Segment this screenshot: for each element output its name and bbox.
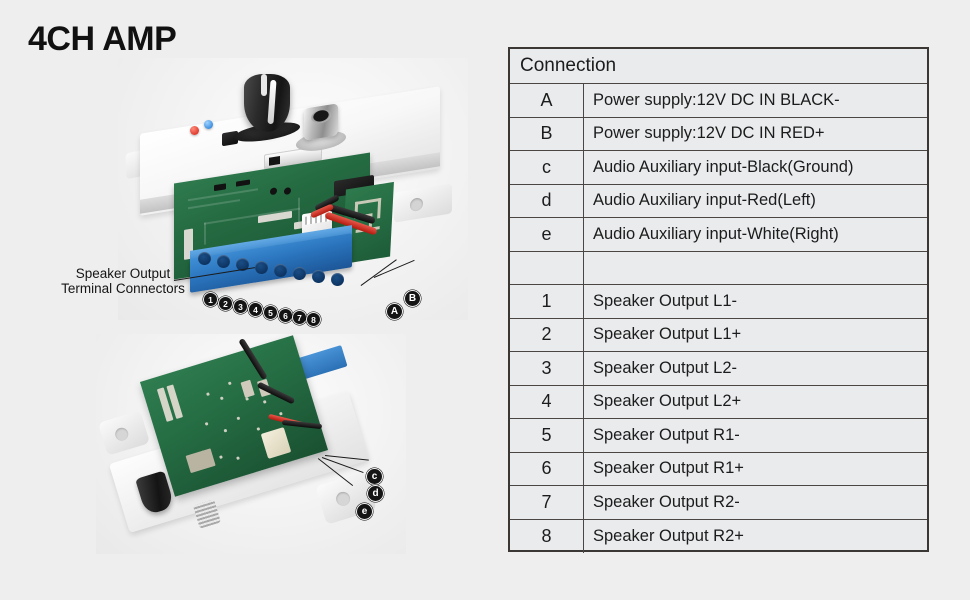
connection-table: Connection APower supply:12V DC IN BLACK…: [508, 47, 929, 552]
dc-power-jack: [304, 103, 338, 140]
page-title: 4CH AMP: [28, 20, 176, 59]
badge-label: 3: [238, 302, 243, 312]
badge-label: B: [409, 293, 416, 304]
table-row: BPower supply:12V DC IN RED+: [510, 118, 927, 152]
table-cell-value: Speaker Output L1+: [584, 319, 927, 352]
callout-badge-A: A: [386, 303, 403, 320]
table-row: 5Speaker Output R1-: [510, 419, 927, 453]
callout-badge-5: 5: [263, 305, 278, 320]
table-cell-key: 4: [510, 386, 584, 419]
badge-label: 2: [223, 299, 228, 309]
callout-badge-e: e: [356, 503, 373, 520]
callout-badge-6: 6: [278, 308, 293, 323]
terminal-screw-2: [217, 255, 230, 268]
led-red-icon: [190, 126, 199, 135]
badge-label: 8: [311, 315, 316, 325]
table-cell-value: Speaker Output L1-: [584, 285, 927, 318]
badge-label: 5: [268, 308, 273, 318]
callout-badge-B: B: [404, 290, 421, 307]
table-cell-value: Speaker Output R2+: [584, 520, 927, 554]
table-cell-value: Speaker Output L2-: [584, 352, 927, 385]
badge-label: e: [362, 506, 368, 517]
badge-label: A: [391, 306, 398, 317]
callout-badge-2: 2: [218, 296, 233, 311]
table-cell-value: Speaker Output R1+: [584, 453, 927, 486]
table-row: 3Speaker Output L2-: [510, 352, 927, 386]
table-cell-key: 3: [510, 352, 584, 385]
product-photo-rear: [96, 334, 406, 554]
callout-badge-4: 4: [248, 302, 263, 317]
callout-badge-c: c: [366, 468, 383, 485]
table-row: 7Speaker Output R2-: [510, 486, 927, 520]
badge-label: 6: [283, 311, 288, 321]
badge-label: 1: [208, 295, 213, 305]
badge-label: 4: [253, 305, 258, 315]
table-row: [510, 252, 927, 286]
table-header-title: Connection: [510, 49, 927, 83]
callout-badge-8: 8: [306, 312, 321, 327]
table-cell-key: c: [510, 151, 584, 184]
table-cell-key: 8: [510, 520, 584, 554]
table-cell-key: 5: [510, 419, 584, 452]
terminal-screw-6: [293, 267, 306, 280]
table-cell-key: B: [510, 118, 584, 151]
table-cell-value: Speaker Output L2+: [584, 386, 927, 419]
table-cell-key: A: [510, 84, 584, 117]
callout-badge-3: 3: [233, 299, 248, 314]
led-blue-icon: [204, 120, 213, 129]
table-cell-value: Speaker Output R2-: [584, 486, 927, 519]
table-cell-key: [510, 252, 584, 285]
badge-label: 7: [297, 313, 302, 323]
table-cell-key: e: [510, 218, 584, 251]
badge-label: c: [372, 471, 378, 482]
table-cell-value: Audio Auxiliary input-White(Right): [584, 218, 927, 251]
terminal-screw-5: [274, 264, 287, 277]
table-header-row: Connection: [510, 49, 927, 84]
table-cell-value: Power supply:12V DC IN BLACK-: [584, 84, 927, 117]
table-cell-value: Audio Auxiliary input-Red(Left): [584, 185, 927, 218]
table-cell-key: 1: [510, 285, 584, 318]
table-row: 2Speaker Output L1+: [510, 319, 927, 353]
table-row: 8Speaker Output R2+: [510, 520, 927, 554]
terminal-screw-1: [198, 252, 211, 265]
callout-badge-d: d: [367, 485, 384, 502]
callout-badge-7: 7: [292, 310, 307, 325]
callout-badge-1: 1: [203, 292, 218, 307]
table-row: 6Speaker Output R1+: [510, 453, 927, 487]
table-cell-value: Power supply:12V DC IN RED+: [584, 118, 927, 151]
callout-label-line2: Terminal Connectors: [48, 281, 198, 296]
terminal-screw-4: [255, 261, 268, 274]
badge-label: d: [372, 488, 378, 499]
table-row: dAudio Auxiliary input-Red(Left): [510, 185, 927, 219]
table-cell-value: Audio Auxiliary input-Black(Ground): [584, 151, 927, 184]
table-cell-key: 6: [510, 453, 584, 486]
table-cell-key: d: [510, 185, 584, 218]
table-cell-key: 7: [510, 486, 584, 519]
table-row: APower supply:12V DC IN BLACK-: [510, 84, 927, 118]
terminal-screw-8: [331, 273, 344, 286]
product-diagram-page: 4CH AMP: [0, 0, 970, 600]
terminal-screw-7: [312, 270, 325, 283]
volume-knob: [244, 74, 290, 132]
table-cell-key: 2: [510, 319, 584, 352]
table-row: 1Speaker Output L1-: [510, 285, 927, 319]
table-row: eAudio Auxiliary input-White(Right): [510, 218, 927, 252]
table-cell-value: Speaker Output R1-: [584, 419, 927, 452]
table-row: 4Speaker Output L2+: [510, 386, 927, 420]
table-cell-value: [584, 252, 927, 285]
table-body: APower supply:12V DC IN BLACK-BPower sup…: [510, 84, 927, 553]
table-row: cAudio Auxiliary input-Black(Ground): [510, 151, 927, 185]
